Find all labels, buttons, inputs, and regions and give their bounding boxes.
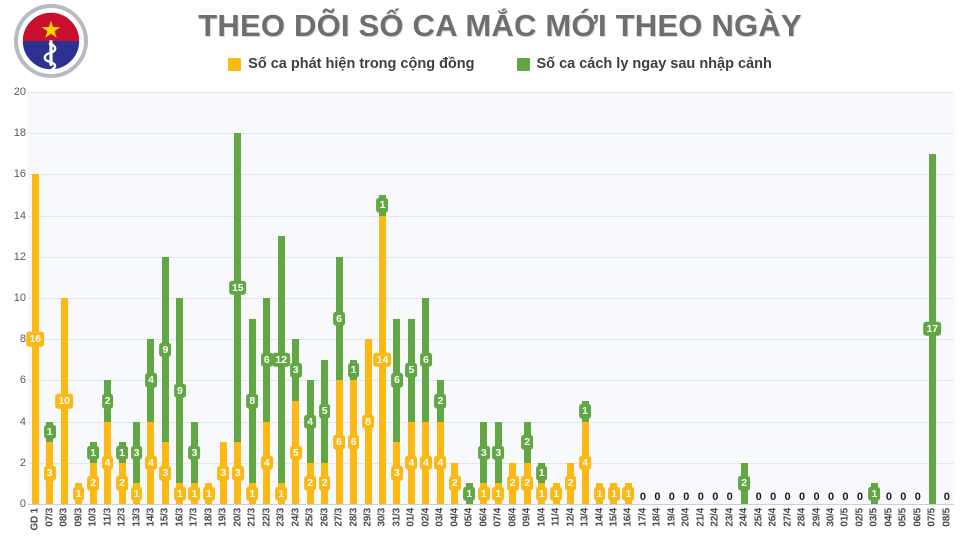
bar-segment-community[interactable]: 1 — [176, 483, 183, 504]
bar-segment-community[interactable]: 2 — [90, 463, 97, 504]
bar-segment-quarantine[interactable]: 15 — [234, 133, 241, 442]
x-tick: 28/3 — [346, 506, 360, 540]
x-axis: GD 107/308/309/310/311/312/313/314/315/3… — [28, 506, 954, 540]
bar-value-label: 2 — [738, 476, 750, 491]
bar-segment-community[interactable]: 1 — [278, 483, 285, 504]
bar-value-label: 1 — [44, 425, 56, 440]
bar-segment-community[interactable]: 2 — [567, 463, 574, 504]
bar-segment-community[interactable]: 6 — [336, 380, 343, 504]
bar-segment-community[interactable]: 3 — [162, 442, 169, 504]
bar-value-zero: 0 — [698, 492, 704, 503]
x-tick: 01/5 — [838, 506, 852, 540]
bar-column[interactable]: 14 — [578, 92, 592, 504]
bar-column[interactable]: 1 — [462, 92, 476, 504]
bar-value-label: 5 — [406, 363, 418, 378]
bar-column[interactable]: 2 — [563, 92, 577, 504]
x-tick-label: 10/3 — [88, 508, 99, 527]
x-tick: 20/3 — [231, 506, 245, 540]
bar-segment-quarantine[interactable]: 3 — [133, 422, 140, 484]
bar-column[interactable]: 0 — [723, 92, 737, 504]
bar-segment-quarantine[interactable]: 2 — [741, 463, 748, 504]
x-tick: 13/4 — [578, 506, 592, 540]
x-tick-label: 23/4 — [724, 508, 735, 527]
bar-column[interactable]: 31 — [491, 92, 505, 504]
bar-segment-community[interactable]: 8 — [365, 339, 372, 504]
bar-value-label: 1 — [463, 486, 475, 501]
bar-segment-community[interactable]: 2 — [524, 463, 531, 504]
x-tick: 09/3 — [71, 506, 85, 540]
bar-segment-quarantine[interactable]: 3 — [495, 422, 502, 484]
x-tick: 17/3 — [187, 506, 201, 540]
bar-value-zero: 0 — [813, 492, 819, 503]
bar-value-label: 5 — [319, 404, 331, 419]
bar-value-label: 2 — [521, 476, 533, 491]
bar-column[interactable]: 0 — [882, 92, 896, 504]
x-tick-label: 29/4 — [811, 508, 822, 527]
x-tick: 24/4 — [737, 506, 751, 540]
bar-column[interactable]: 1 — [867, 92, 881, 504]
x-tick-label: 31/3 — [391, 508, 402, 527]
x-tick: 07/4 — [491, 506, 505, 540]
bar-segment-quarantine[interactable]: 1 — [379, 195, 386, 216]
x-tick: 08/5 — [940, 506, 954, 540]
bar-column[interactable]: 1 — [202, 92, 216, 504]
bar-column[interactable]: 1 — [621, 92, 635, 504]
bar-value-label: 2 — [521, 435, 533, 450]
bar-segment-community[interactable]: 4 — [104, 422, 111, 504]
bar-value-zero: 0 — [799, 492, 805, 503]
bar-value-label: 8 — [362, 414, 374, 429]
bar-series-container: 1613101122412314493913113153816412135425… — [28, 92, 954, 504]
bar-segment-community[interactable]: 1 — [205, 483, 212, 504]
bar-segment-community[interactable]: 3 — [220, 442, 227, 504]
bar-segment-quarantine[interactable]: 9 — [162, 257, 169, 442]
x-tick-label: 09/3 — [73, 508, 84, 527]
bar-segment-community[interactable]: 1 — [553, 483, 560, 504]
bar-segment-community[interactable]: 4 — [422, 422, 429, 504]
bar-segment-community[interactable]: 2 — [509, 463, 516, 504]
x-tick-label: 02/5 — [854, 508, 865, 527]
bar-value-label: 1 — [174, 486, 186, 501]
bar-value-zero: 0 — [654, 492, 660, 503]
bar-value-label: 12 — [272, 353, 290, 368]
bar-column[interactable]: 16 — [28, 92, 42, 504]
bar-segment-community[interactable]: 1 — [480, 483, 487, 504]
x-tick-label: 07/4 — [493, 508, 504, 527]
bar-value-label: 3 — [290, 363, 302, 378]
x-tick-label: 16/4 — [623, 508, 634, 527]
bar-value-zero: 0 — [857, 492, 863, 503]
bar-segment-community[interactable]: 5 — [292, 401, 299, 504]
bar-value-zero: 0 — [640, 492, 646, 503]
x-tick: 04/4 — [448, 506, 462, 540]
bar-column[interactable]: 0 — [838, 92, 852, 504]
bar-value-label: 6 — [420, 353, 432, 368]
bar-column[interactable]: 44 — [144, 92, 158, 504]
bar-column[interactable]: 31 — [477, 92, 491, 504]
bar-column[interactable]: 0 — [751, 92, 765, 504]
bar-column[interactable]: 0 — [766, 92, 780, 504]
bar-segment-community[interactable]: 3 — [234, 442, 241, 504]
x-tick-label: 27/3 — [334, 508, 345, 527]
x-tick: 07/3 — [42, 506, 56, 540]
bar-column[interactable]: 0 — [679, 92, 693, 504]
bar-column[interactable]: 12 — [115, 92, 129, 504]
x-tick: 15/3 — [158, 506, 172, 540]
x-tick: 25/4 — [751, 506, 765, 540]
x-tick-label: 07/3 — [44, 508, 55, 527]
x-tick: 04/5 — [882, 506, 896, 540]
x-tick-label: 30/3 — [377, 508, 388, 527]
bar-segment-quarantine[interactable]: 9 — [176, 298, 183, 483]
bar-value-label: 4 — [102, 456, 114, 471]
bar-value-label: 1 — [275, 486, 287, 501]
bar-segment-quarantine[interactable]: 1 — [871, 483, 878, 504]
page-title: THEO DÕI SỐ CA MẮC MỚI THEO NGÀY — [120, 8, 880, 44]
bar-segment-community[interactable]: 1 — [75, 483, 82, 504]
bar-column[interactable]: 0 — [694, 92, 708, 504]
bar-column[interactable]: 31 — [129, 92, 143, 504]
bar-segment-quarantine[interactable]: 6 — [393, 319, 400, 443]
bar-segment-quarantine[interactable]: 3 — [191, 422, 198, 484]
bar-column[interactable]: 24 — [100, 92, 114, 504]
bar-value-label: 1 — [478, 486, 490, 501]
x-tick: 05/4 — [462, 506, 476, 540]
bar-segment-community[interactable]: 4 — [147, 422, 154, 504]
x-tick: 12/3 — [115, 506, 129, 540]
bar-column[interactable]: 0 — [853, 92, 867, 504]
bar-segment-community[interactable]: 10 — [61, 298, 68, 504]
x-tick-label: 15/3 — [160, 508, 171, 527]
bar-segment-community[interactable]: 1 — [610, 483, 617, 504]
bar-segment-quarantine[interactable]: 1 — [538, 463, 545, 484]
bar-segment-community[interactable]: 4 — [582, 422, 589, 504]
bar-value-label: 4 — [145, 456, 157, 471]
x-tick: 26/3 — [317, 506, 331, 540]
ministry-of-health-logo — [14, 4, 88, 78]
y-axis: 20181614121086420 — [0, 92, 26, 504]
x-tick-label: 11/4 — [551, 508, 562, 526]
bar-value-label: 3 — [232, 466, 244, 481]
x-tick-label: 17/3 — [189, 508, 200, 527]
bar-value-zero: 0 — [785, 492, 791, 503]
bar-segment-community[interactable]: 14 — [379, 216, 386, 504]
bar-value-label: 2 — [102, 394, 114, 409]
bar-column[interactable]: 2 — [737, 92, 751, 504]
bar-column[interactable]: 93 — [158, 92, 172, 504]
bar-segment-quarantine[interactable]: 6 — [422, 298, 429, 422]
bar-segment-community[interactable]: 16 — [32, 174, 39, 504]
x-tick: 30/4 — [824, 506, 838, 540]
bar-column[interactable]: 64 — [260, 92, 274, 504]
bar-value-label: 4 — [406, 456, 418, 471]
x-tick: 25/3 — [303, 506, 317, 540]
bar-value-zero: 0 — [669, 492, 675, 503]
x-tick: 09/4 — [520, 506, 534, 540]
x-tick-label: 28/4 — [797, 508, 808, 527]
bar-value-label: 6 — [391, 373, 403, 388]
x-tick: 14/3 — [144, 506, 158, 540]
x-tick-label: 24/4 — [739, 508, 750, 527]
y-tick-label: 10 — [0, 292, 26, 304]
bar-segment-community[interactable]: 4 — [437, 422, 444, 504]
bar-column[interactable]: 153 — [231, 92, 245, 504]
x-tick: 18/3 — [202, 506, 216, 540]
bar-column[interactable]: 1 — [549, 92, 563, 504]
bar-value-zero: 0 — [828, 492, 834, 503]
x-tick: 26/4 — [766, 506, 780, 540]
x-tick-label: 19/3 — [218, 508, 229, 527]
bar-value-label: 1 — [377, 198, 389, 213]
bar-column[interactable]: 52 — [317, 92, 331, 504]
x-tick-label: 05/5 — [898, 508, 909, 527]
x-tick-label: 23/3 — [276, 508, 287, 527]
x-tick: 08/3 — [57, 506, 71, 540]
bar-segment-quarantine[interactable]: 8 — [249, 319, 256, 484]
bar-column[interactable]: 1 — [71, 92, 85, 504]
bar-value-label: 2 — [565, 476, 577, 491]
x-tick-label: 07/5 — [927, 508, 938, 527]
y-tick-label: 16 — [0, 168, 26, 180]
bar-segment-quarantine[interactable]: 1 — [90, 442, 97, 463]
legend-item-quarantine[interactable]: Số ca cách ly ngay sau nhập cảnh — [517, 56, 772, 72]
x-tick-label: 05/4 — [464, 508, 475, 527]
x-tick-label: 14/3 — [145, 508, 156, 527]
bar-column[interactable]: 0 — [636, 92, 650, 504]
bar-column[interactable]: 42 — [303, 92, 317, 504]
bar-segment-community[interactable]: 1 — [133, 483, 140, 504]
y-tick-label: 0 — [0, 498, 26, 510]
x-tick: 03/4 — [433, 506, 447, 540]
bar-segment-quarantine[interactable]: 17 — [929, 154, 936, 504]
x-tick: 15/4 — [607, 506, 621, 540]
bar-value-label: 1 — [579, 404, 591, 419]
bar-segment-quarantine[interactable]: 4 — [307, 380, 314, 462]
bar-column[interactable]: 0 — [708, 92, 722, 504]
bar-value-label: 1 — [87, 445, 99, 460]
x-tick-label: 25/4 — [753, 508, 764, 527]
bar-segment-quarantine[interactable]: 1 — [350, 360, 357, 381]
x-tick-label: 03/5 — [869, 508, 880, 527]
bar-column[interactable]: 2 — [448, 92, 462, 504]
x-tick: 17/4 — [636, 506, 650, 540]
bar-value-zero: 0 — [756, 492, 762, 503]
bar-segment-quarantine[interactable]: 4 — [147, 339, 154, 421]
bar-segment-community[interactable]: 2 — [451, 463, 458, 504]
x-tick: 11/3 — [100, 506, 114, 540]
bar-segment-community[interactable]: 1 — [191, 483, 198, 504]
bar-column[interactable]: 13 — [42, 92, 56, 504]
bar-column[interactable]: 114 — [375, 92, 389, 504]
bar-column[interactable]: 10 — [57, 92, 71, 504]
bar-segment-quarantine[interactable]: 1 — [46, 422, 53, 443]
x-tick: 27/4 — [780, 506, 794, 540]
bar-column[interactable]: 1 — [607, 92, 621, 504]
bar-segment-quarantine[interactable]: 5 — [321, 360, 328, 463]
bar-segment-quarantine[interactable]: 2 — [104, 380, 111, 421]
bar-column[interactable]: 0 — [795, 92, 809, 504]
x-tick: 23/4 — [723, 506, 737, 540]
bar-column[interactable]: 12 — [86, 92, 100, 504]
chart-header: THEO DÕI SỐ CA MẮC MỚI THEO NGÀY Số ca p… — [0, 0, 960, 92]
x-tick-label: 10/4 — [536, 508, 547, 527]
bar-value-label: 15 — [229, 280, 247, 295]
bar-segment-community[interactable]: 1 — [596, 483, 603, 504]
bar-column[interactable]: 22 — [520, 92, 534, 504]
x-tick-label: 16/3 — [174, 508, 185, 527]
x-tick-label: 01/4 — [406, 508, 417, 527]
x-tick: 21/3 — [245, 506, 259, 540]
bar-segment-community[interactable]: 2 — [119, 463, 126, 504]
bar-column[interactable]: 0 — [780, 92, 794, 504]
bar-value-label: 6 — [333, 435, 345, 450]
bar-value-zero: 0 — [900, 492, 906, 503]
bar-column[interactable]: 35 — [288, 92, 302, 504]
bar-segment-community[interactable]: 3 — [393, 442, 400, 504]
bar-column[interactable]: 11 — [534, 92, 548, 504]
bar-column[interactable]: 8 — [361, 92, 375, 504]
bar-segment-community[interactable]: 2 — [307, 463, 314, 504]
bar-segment-quarantine[interactable]: 5 — [408, 319, 415, 422]
bar-segment-community[interactable]: 3 — [46, 442, 53, 504]
bar-segment-quarantine[interactable]: 2 — [437, 380, 444, 421]
x-tick-label: 03/4 — [435, 508, 446, 527]
bar-segment-community[interactable]: 6 — [350, 380, 357, 504]
bar-value-label: 1 — [203, 486, 215, 501]
x-tick-label: GD 1 — [30, 508, 41, 531]
x-tick-label: 01/5 — [840, 508, 851, 527]
bar-value-label: 1 — [550, 486, 562, 501]
bar-column[interactable]: 54 — [404, 92, 418, 504]
x-tick: 12/4 — [563, 506, 577, 540]
bar-column[interactable]: 121 — [274, 92, 288, 504]
x-tick: 11/4 — [549, 506, 563, 540]
x-tick: 31/3 — [390, 506, 404, 540]
bar-value-label: 2 — [87, 476, 99, 491]
bar-segment-quarantine[interactable]: 3 — [292, 339, 299, 401]
bar-column[interactable]: 17 — [925, 92, 939, 504]
x-tick-label: 26/3 — [319, 508, 330, 527]
y-tick-label: 6 — [0, 374, 26, 386]
bar-segment-quarantine[interactable]: 1 — [119, 442, 126, 463]
bar-segment-community[interactable]: 1 — [495, 483, 502, 504]
bar-value-label: 3 — [44, 466, 56, 481]
bar-value-label: 1 — [246, 486, 258, 501]
bar-segment-community[interactable]: 1 — [249, 483, 256, 504]
bar-segment-quarantine[interactable]: 12 — [278, 236, 285, 483]
bar-column[interactable]: 2 — [505, 92, 519, 504]
bar-column[interactable]: 0 — [665, 92, 679, 504]
x-tick-label: 04/5 — [883, 508, 894, 527]
bar-value-zero: 0 — [712, 492, 718, 503]
bar-column[interactable]: 0 — [896, 92, 910, 504]
bar-value-label: 3 — [188, 445, 200, 460]
bar-value-label: 2 — [449, 476, 461, 491]
x-tick: 20/4 — [679, 506, 693, 540]
x-tick-label: 21/3 — [247, 508, 258, 527]
x-tick-label: 12/3 — [117, 508, 128, 527]
x-tick: 30/3 — [375, 506, 389, 540]
x-tick: 19/4 — [665, 506, 679, 540]
bar-column[interactable]: 63 — [390, 92, 404, 504]
x-tick-label: 08/3 — [59, 508, 70, 527]
x-tick: 01/4 — [404, 506, 418, 540]
bar-value-label: 6 — [261, 353, 273, 368]
bar-value-label: 9 — [174, 383, 186, 398]
chart-legend: Số ca phát hiện trong cộng đồng Số ca cá… — [120, 56, 880, 72]
x-tick: 03/5 — [867, 506, 881, 540]
x-tick-label: 02/4 — [420, 508, 431, 527]
bar-segment-community[interactable]: 4 — [263, 422, 270, 504]
bar-column[interactable]: 66 — [332, 92, 346, 504]
bar-segment-quarantine[interactable]: 2 — [524, 422, 531, 463]
x-tick: 08/4 — [505, 506, 519, 540]
bar-value-label: 3 — [492, 445, 504, 460]
bar-segment-quarantine[interactable]: 1 — [582, 401, 589, 422]
x-tick: 29/4 — [809, 506, 823, 540]
bar-segment-community[interactable]: 2 — [321, 463, 328, 504]
bar-value-zero: 0 — [915, 492, 921, 503]
x-tick-label: 22/3 — [261, 508, 272, 527]
bar-column[interactable]: 31 — [187, 92, 201, 504]
x-tick: 27/3 — [332, 506, 346, 540]
bar-column[interactable]: 64 — [419, 92, 433, 504]
bar-segment-community[interactable]: 4 — [408, 422, 415, 504]
x-tick-label: 21/4 — [695, 508, 706, 527]
y-tick-label: 20 — [0, 86, 26, 98]
bar-value-label: 1 — [594, 486, 606, 501]
bar-segment-quarantine[interactable]: 1 — [466, 483, 473, 504]
bar-column[interactable]: 0 — [809, 92, 823, 504]
bar-column[interactable]: 81 — [245, 92, 259, 504]
bar-column[interactable]: 3 — [216, 92, 230, 504]
legend-item-community[interactable]: Số ca phát hiện trong cộng đồng — [228, 56, 474, 72]
bar-segment-quarantine[interactable]: 3 — [480, 422, 487, 484]
bar-segment-community[interactable]: 1 — [625, 483, 632, 504]
x-tick: 16/3 — [173, 506, 187, 540]
bar-segment-community[interactable]: 1 — [538, 483, 545, 504]
bar-column[interactable]: 0 — [940, 92, 954, 504]
x-tick-label: 08/4 — [507, 508, 518, 527]
y-tick-label: 2 — [0, 457, 26, 469]
y-tick-label: 8 — [0, 333, 26, 345]
x-tick-label: 24/3 — [290, 508, 301, 527]
bar-column[interactable]: 1 — [592, 92, 606, 504]
bar-value-label: 1 — [73, 486, 85, 501]
x-tick: 06/5 — [911, 506, 925, 540]
bar-segment-quarantine[interactable]: 6 — [336, 257, 343, 381]
bar-column[interactable]: 24 — [433, 92, 447, 504]
bar-column[interactable]: 0 — [824, 92, 838, 504]
bar-value-label: 5 — [290, 445, 302, 460]
bar-column[interactable]: 0 — [650, 92, 664, 504]
bar-value-label: 6 — [333, 311, 345, 326]
bar-value-label: 1 — [348, 363, 360, 378]
bar-column[interactable]: 91 — [173, 92, 187, 504]
bar-segment-quarantine[interactable]: 6 — [263, 298, 270, 422]
bar-value-label: 3 — [391, 466, 403, 481]
x-tick: 10/4 — [534, 506, 548, 540]
bar-value-label: 9 — [160, 342, 172, 357]
x-tick: 13/3 — [129, 506, 143, 540]
bar-value-label: 1 — [536, 486, 548, 501]
x-tick: GD 1 — [28, 506, 42, 540]
bar-column[interactable]: 16 — [346, 92, 360, 504]
x-tick-label: 06/5 — [912, 508, 923, 527]
bar-column[interactable]: 0 — [911, 92, 925, 504]
x-tick: 24/3 — [288, 506, 302, 540]
bar-value-label: 2 — [319, 476, 331, 491]
